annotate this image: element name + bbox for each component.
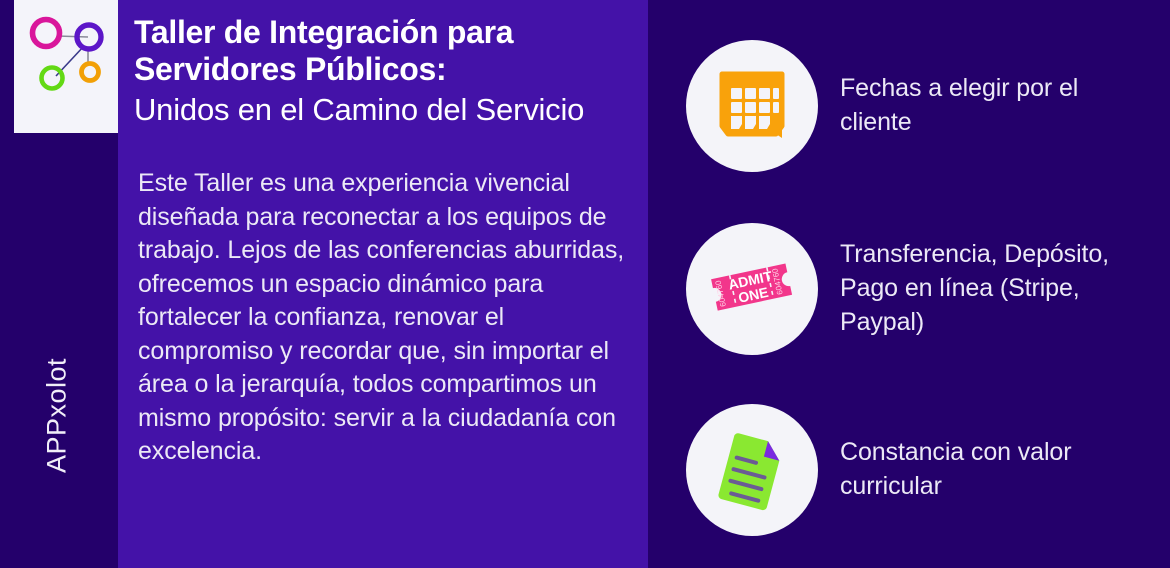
slide-canvas: APPxolot Taller de Integración para Serv…: [0, 0, 1170, 568]
feature-badge-certificate: [686, 404, 818, 536]
calendar-icon: [706, 60, 798, 152]
brand-name-vertical: APPxolot: [42, 351, 73, 481]
ticket-icon: ADMIT ONE 604760 604760: [700, 237, 804, 341]
feature-badge-dates: [686, 40, 818, 172]
description-paragraph: Este Taller es una experiencia vivencial…: [138, 167, 638, 469]
feature-item-payment: ADMIT ONE 604760 604760 Transferencia, D…: [686, 223, 1150, 355]
network-nodes-icon: [14, 0, 118, 133]
feature-item-dates: Fechas a elegir por el cliente: [686, 40, 1150, 172]
feature-item-certificate: Constancia con valor curricular: [686, 404, 1150, 536]
certificate-document-icon: [704, 422, 800, 518]
title-line-3: Unidos en el Camino del Servicio: [134, 91, 644, 128]
brand-logo-box: [14, 0, 118, 133]
title-block: Taller de Integración para Servidores Pú…: [134, 14, 644, 128]
feature-label-payment: Transferencia, Depósito, Pago en línea (…: [840, 238, 1150, 339]
feature-label-certificate: Constancia con valor curricular: [840, 436, 1150, 504]
title-line-1: Taller de Integración para: [134, 14, 644, 51]
feature-badge-payment: ADMIT ONE 604760 604760: [686, 223, 818, 355]
title-line-2: Servidores Públicos:: [134, 51, 644, 88]
feature-label-dates: Fechas a elegir por el cliente: [840, 72, 1150, 140]
